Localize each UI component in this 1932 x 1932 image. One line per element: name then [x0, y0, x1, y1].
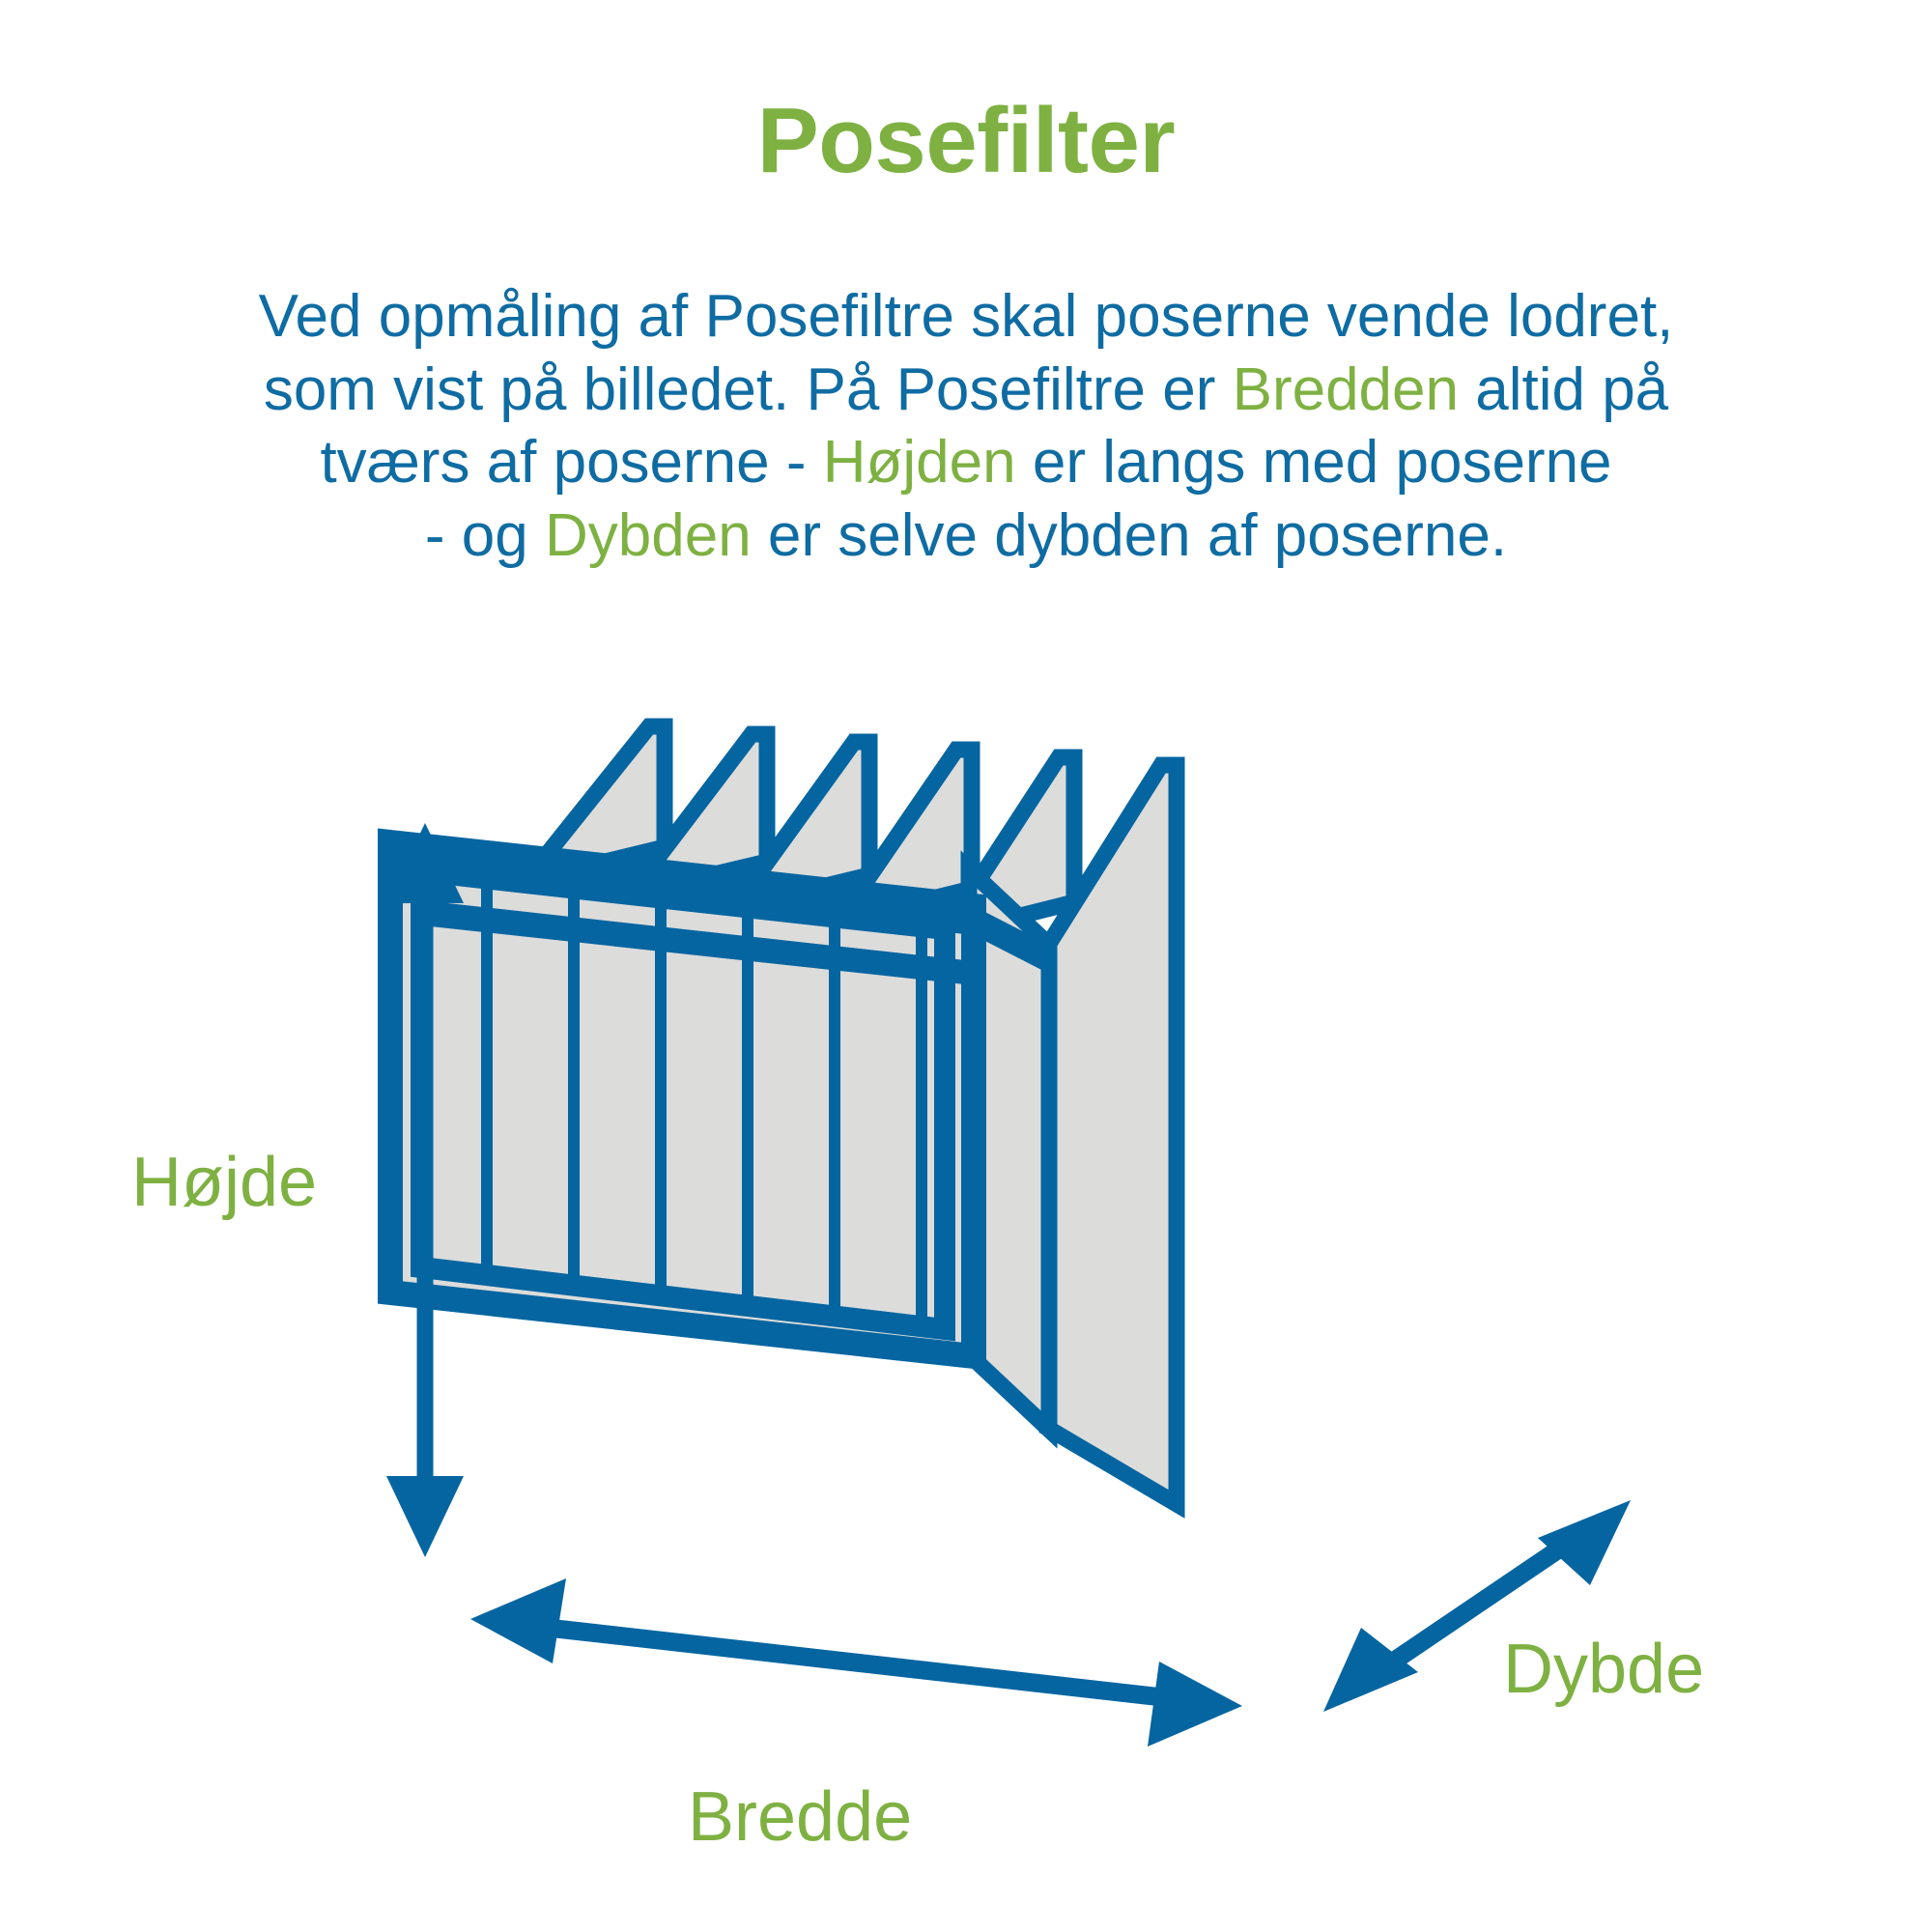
- depth-dimension-label: Dybde: [1503, 1634, 1704, 1704]
- width-dimension-label: Bredde: [688, 1782, 912, 1852]
- width-arrow: [470, 1578, 1242, 1747]
- poster-canvas: Posefilter Ved opmåling af Posefiltre sk…: [0, 0, 1932, 1932]
- height-dimension-label: Højde: [131, 1148, 317, 1217]
